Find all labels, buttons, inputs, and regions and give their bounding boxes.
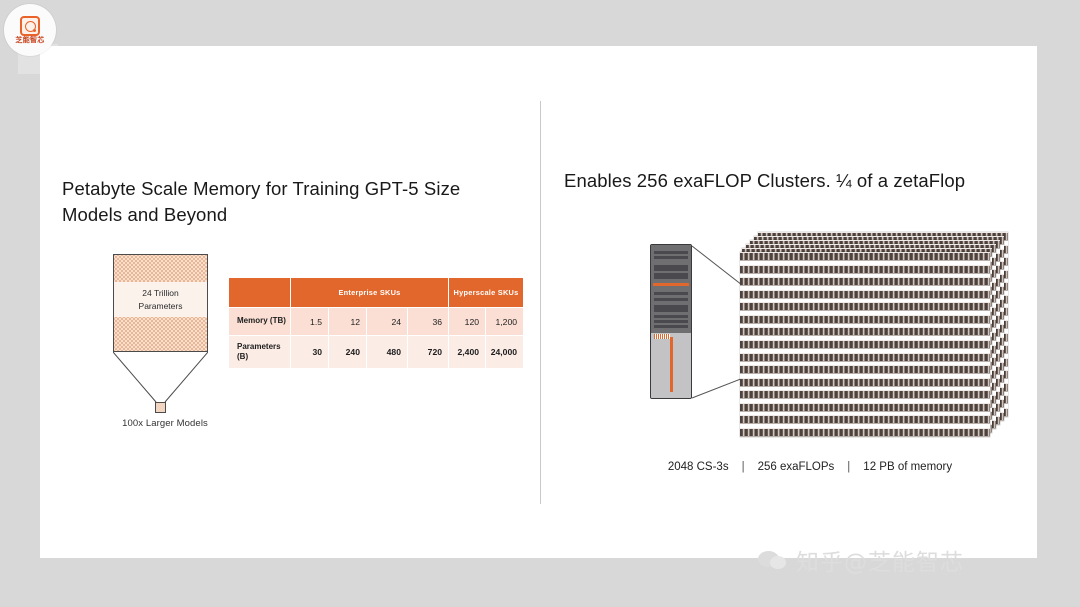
- funnel-label-band: 24 Trillion Parameters: [114, 282, 207, 317]
- watermark-text: 知乎@芝能智芯: [796, 543, 964, 577]
- table-row: Memory (TB) 1.5 12 24 36 120 1,200: [229, 308, 524, 336]
- rack-unit-row: [740, 428, 990, 437]
- cell-params-4: 2,400: [449, 336, 486, 369]
- cell-params-0: 30: [291, 336, 329, 369]
- cell-memory-3: 36: [408, 308, 449, 336]
- rack-unit-row: [740, 353, 990, 362]
- watermark: 知乎@芝能智芯: [758, 540, 1058, 580]
- stat-memory: 12 PB of memory: [863, 461, 952, 473]
- rack-unit-row: [740, 302, 990, 311]
- rack-unit-row: [740, 265, 990, 274]
- rack-unit-row: [740, 327, 990, 336]
- rack-unit-row: [740, 315, 990, 324]
- panel-divider: [540, 101, 541, 504]
- table-row: Parameters (B) 30 240 480 720 2,400 24,0…: [229, 336, 524, 369]
- funnel-diagram: 24 Trillion Parameters 100x Larger Model…: [105, 254, 225, 424]
- table-body: Memory (TB) 1.5 12 24 36 120 1,200 Param…: [229, 308, 524, 369]
- funnel-label-line2: Parameters: [139, 301, 183, 312]
- rack-unit-row: [740, 365, 990, 374]
- array-layer-front: [740, 252, 990, 437]
- brand-logo-badge[interactable]: 芝能智芯: [4, 4, 56, 56]
- cluster-stats-row: 2048 CS-3s | 256 exaFLOPs | 12 PB of mem…: [600, 461, 1020, 473]
- table-header-enterprise: Enterprise SKUs: [291, 278, 449, 308]
- funnel-caption: 100x Larger Models: [97, 418, 233, 429]
- right-panel-heading: Enables 256 exaFLOP Clusters. ¼ of a zet…: [564, 168, 1014, 194]
- cell-memory-1: 12: [329, 308, 367, 336]
- rack-unit-row: [740, 277, 990, 286]
- cell-params-5: 24,000: [486, 336, 524, 369]
- stat-separator: |: [729, 461, 758, 473]
- cell-params-2: 480: [367, 336, 408, 369]
- cell-memory-5: 1,200: [486, 308, 524, 336]
- rack-unit-row: [740, 415, 990, 424]
- sku-comparison-table: Enterprise SKUs Hyperscale SKUs Memory (…: [228, 277, 524, 369]
- rack-orange-stripe: [670, 337, 673, 392]
- rack-cluster-array: [740, 232, 1010, 442]
- cell-memory-4: 120: [449, 308, 486, 336]
- rack-unit-row: [740, 290, 990, 299]
- rack-unit-row: [740, 340, 990, 349]
- funnel-tip: [155, 402, 166, 413]
- stat-cs3-count: 2048 CS-3s: [668, 461, 729, 473]
- cell-memory-2: 24: [367, 308, 408, 336]
- stat-exaflops: 256 exaFLOPs: [758, 461, 835, 473]
- row-label-memory: Memory (TB): [229, 308, 291, 336]
- stat-separator: |: [834, 461, 863, 473]
- table-header: Enterprise SKUs Hyperscale SKUs: [229, 278, 524, 308]
- funnel-neck: [113, 352, 208, 404]
- cell-params-1: 240: [329, 336, 367, 369]
- row-label-parameters: Parameters (B): [229, 336, 291, 369]
- cell-params-3: 720: [408, 336, 449, 369]
- funnel-body: 24 Trillion Parameters: [113, 254, 208, 352]
- left-panel-heading: Petabyte Scale Memory for Training GPT-5…: [62, 176, 502, 229]
- chip-icon: [20, 16, 40, 36]
- rack-unit-row: [740, 403, 990, 412]
- funnel-label-line1: 24 Trillion: [142, 288, 178, 299]
- wechat-bubble-icon: [758, 549, 788, 571]
- slide-canvas: Petabyte Scale Memory for Training GPT-5…: [40, 46, 1037, 558]
- rack-unit-row: [740, 252, 990, 261]
- table-header-corner: [229, 278, 291, 308]
- screenshot-root: 芝能智芯 Petabyte Scale Memory for Training …: [0, 0, 1080, 607]
- rack-unit-row: [740, 390, 990, 399]
- table-header-row: Enterprise SKUs Hyperscale SKUs: [229, 278, 524, 308]
- cell-memory-0: 1.5: [291, 308, 329, 336]
- cs-3-rack: [650, 244, 692, 399]
- rack-cluster-diagram: [600, 216, 1020, 476]
- rack-indicator-leds: [654, 334, 670, 339]
- brand-logo-label: 芝能智芯: [15, 37, 44, 44]
- rack-unit-row: [740, 378, 990, 387]
- table-header-hyperscale: Hyperscale SKUs: [449, 278, 524, 308]
